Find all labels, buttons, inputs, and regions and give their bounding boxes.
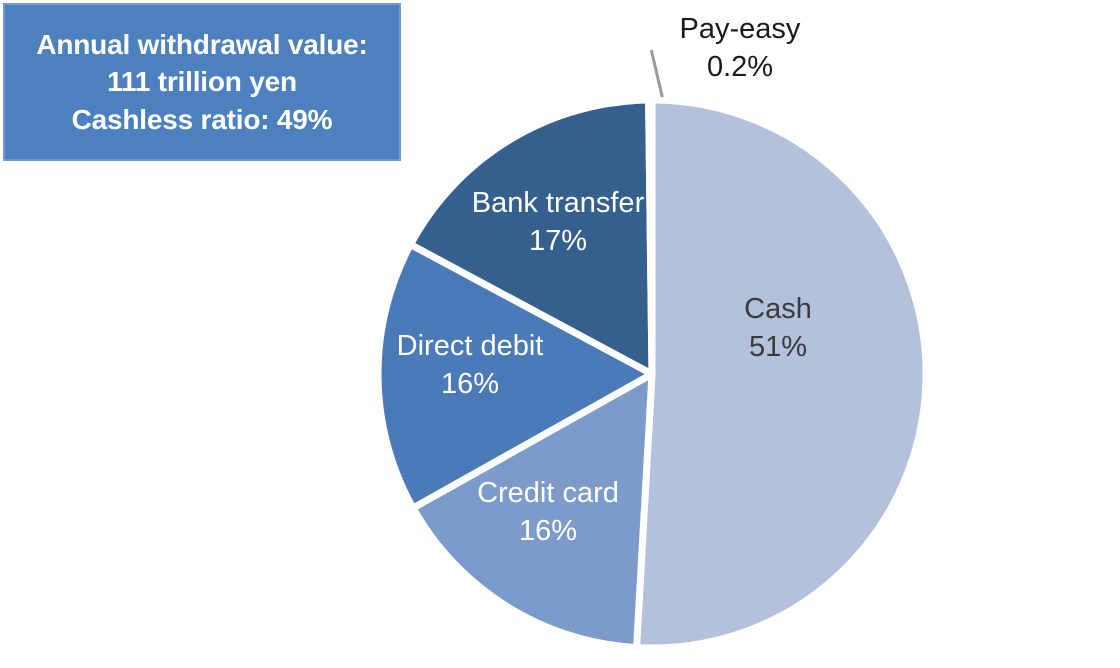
pie-leader-line-group	[651, 50, 662, 97]
slice-label-value: 51%	[749, 331, 807, 363]
pie-chart-svg: Cash51%Credit card16%Direct debit16%Bank…	[0, 0, 1120, 668]
slice-label-name: Direct debit	[397, 330, 544, 362]
slice-label-value: 17%	[529, 225, 587, 257]
slice-label-name: Credit card	[477, 477, 619, 509]
pie-slice-cash[interactable]	[637, 100, 927, 648]
slice-label-name: Bank transfer	[472, 187, 645, 219]
slice-label-name: Cash	[744, 293, 812, 325]
pie-chart-figure: Annual withdrawal value: 111 trillion ye…	[0, 0, 1120, 668]
leader-line-pay-easy	[651, 50, 662, 97]
pie-slice-pay-easy[interactable]	[649, 100, 652, 374]
slice-label-value: 16%	[519, 515, 577, 547]
slice-label-pay-easy: Pay-easy0.2%	[680, 13, 801, 83]
slice-label-value: 16%	[441, 368, 499, 400]
slice-label-value: 0.2%	[707, 51, 773, 83]
slice-label-name: Pay-easy	[680, 13, 801, 45]
